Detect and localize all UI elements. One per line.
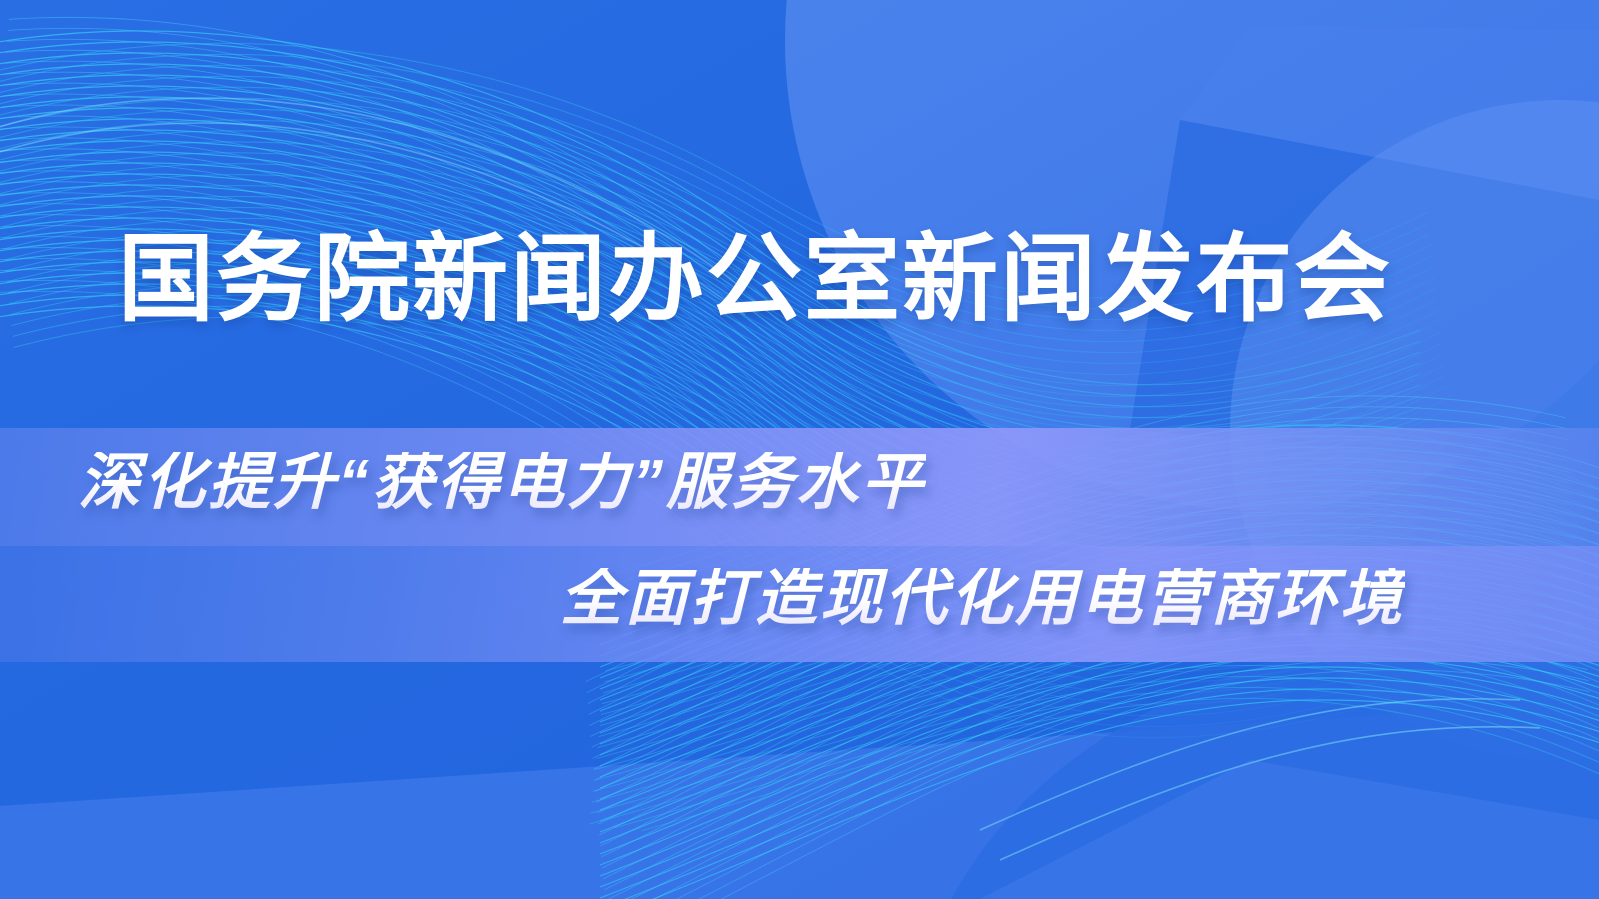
page-title: 国务院新闻办公室新闻发布会 [118, 228, 1392, 332]
diagonal-band-upper-right [1180, 25, 1599, 200]
news-conference-banner: 国务院新闻办公室新闻发布会 深化提升“获得电力”服务水平 全面打造现代化用电营商… [0, 0, 1599, 899]
wave-highlight-bottom-right [980, 699, 1540, 860]
circle-right-mid [1230, 100, 1599, 760]
arc-bottom-right-highlight [980, 760, 1599, 899]
arc-bottom-right [910, 640, 1599, 899]
subtitle-line-2: 全面打造现代化用电营商环境 [560, 568, 1405, 630]
subtitle-line-1: 深化提升“获得电力”服务水平 [78, 452, 926, 514]
wave-moire-top-left-overlay-2 [0, 0, 1424, 759]
diagonal-band-bottom-left [0, 700, 1599, 899]
